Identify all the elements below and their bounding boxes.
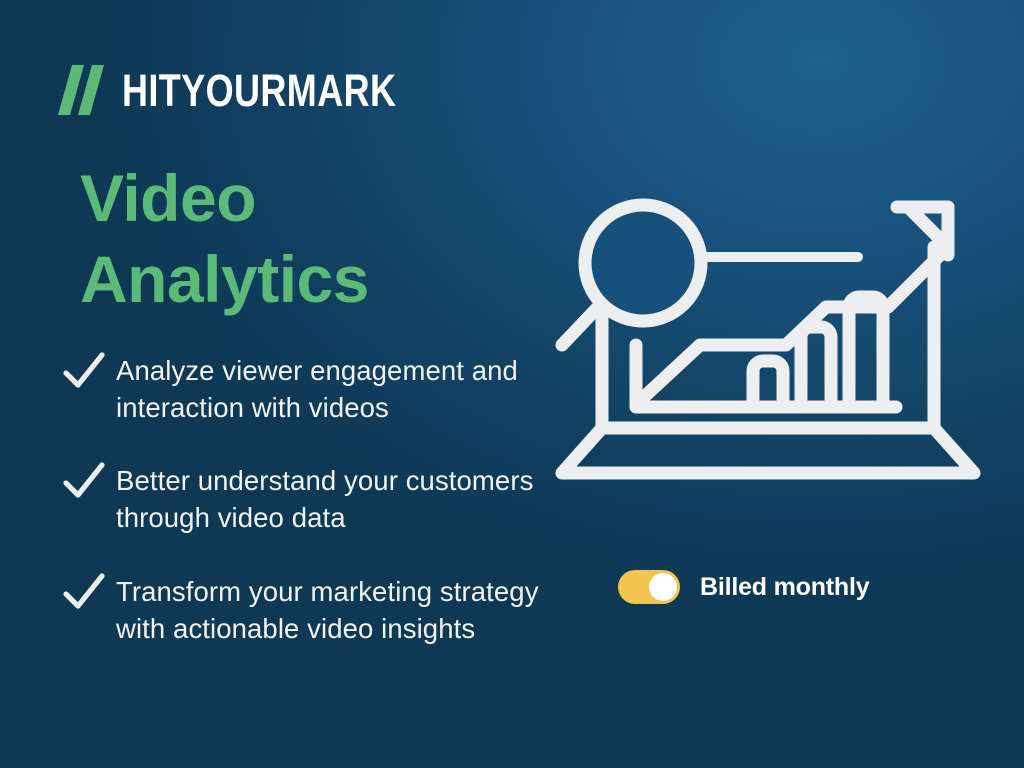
illustration-svg <box>548 185 988 505</box>
check-icon <box>62 571 106 615</box>
brand-logo: HITYOURMARK <box>58 62 465 118</box>
list-item: Analyze viewer engagement and interactio… <box>62 348 572 426</box>
list-item-label: Analyze viewer engagement and interactio… <box>116 348 572 426</box>
billed-monthly-toggle[interactable] <box>618 570 680 604</box>
page-title-line-1: Video <box>80 158 540 239</box>
toggle-knob[interactable] <box>649 573 677 601</box>
double-slash-icon <box>58 65 110 115</box>
feature-list: Analyze viewer engagement and interactio… <box>62 348 572 647</box>
video-analytics-illustration <box>548 185 988 505</box>
list-item: Better understand your customers through… <box>62 458 572 536</box>
check-icon <box>62 460 106 504</box>
billing-toggle-row[interactable]: Billed monthly <box>618 570 869 604</box>
list-item-label: Better understand your customers through… <box>116 458 572 536</box>
billed-monthly-label: Billed monthly <box>700 573 869 602</box>
list-item-label: Transform your marketing strategy with a… <box>116 569 572 647</box>
slide-canvas: HITYOURMARK Video Analytics Analyze view… <box>0 0 1024 768</box>
check-icon <box>62 350 106 394</box>
page-title-line-2: Analytics <box>80 239 540 320</box>
magnifying-glass-icon <box>562 205 701 345</box>
brand-name: HITYOURMARK <box>122 68 396 113</box>
page-title: Video Analytics <box>80 158 540 319</box>
list-item: Transform your marketing strategy with a… <box>62 569 572 647</box>
